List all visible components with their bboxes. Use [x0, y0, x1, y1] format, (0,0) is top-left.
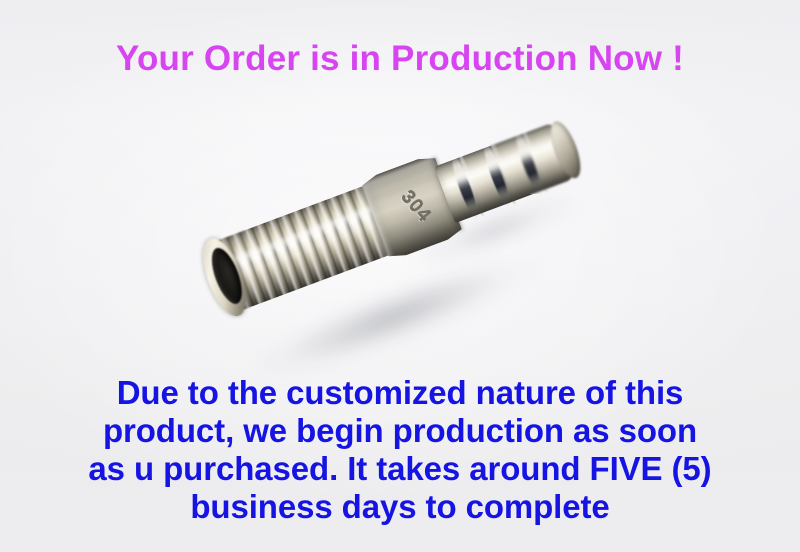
notice-line-1: Due to the customized nature of this — [0, 374, 800, 412]
production-notice: Due to the customized nature of this pro… — [0, 374, 800, 526]
notice-line-4: business days to complete — [0, 488, 800, 526]
page-title: Your Order is in Production Now ! — [0, 38, 800, 80]
notice-line-2: product, we begin production as soon — [0, 412, 800, 450]
notice-line-3: as u purchased. It takes around FIVE (5) — [0, 450, 800, 488]
product-photo: 304 — [150, 118, 670, 383]
announcement-banner: Your Order is in Production Now ! 304 — [0, 0, 800, 552]
